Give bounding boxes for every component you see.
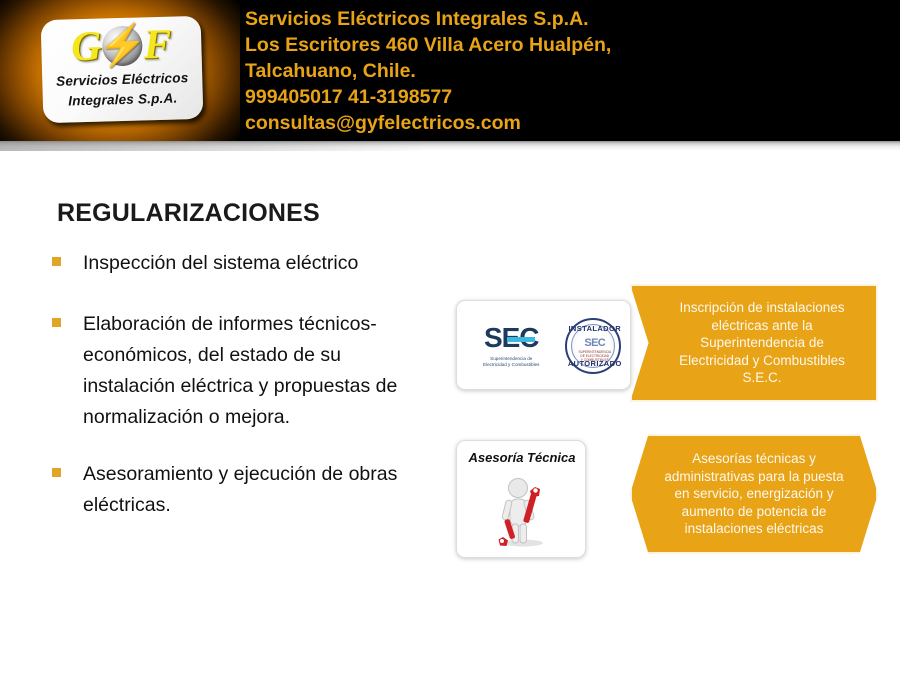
badge-top-label: INSTALADOR <box>567 324 623 333</box>
header-divider <box>0 141 900 151</box>
lightning-bolt-icon: ⚡ <box>97 25 148 66</box>
sec-logo-card-inner: SEC Superintendencia de Electricidad y C… <box>457 301 631 390</box>
slide: G ⚡ F Servicios Eléctricos Integrales S.… <box>0 0 900 675</box>
asesoria-tecnica-card: Asesoría Técnica <box>456 440 586 558</box>
company-contact-block: Servicios Eléctricos Integrales S.p.A. L… <box>245 6 885 136</box>
sec-logo-card: SEC Superintendencia de Electricidad y C… <box>456 300 631 390</box>
company-email: consultas@gyfelectricos.com <box>245 110 885 136</box>
spacer <box>52 279 452 309</box>
list-item-label: Inspección del sistema eléctrico <box>83 248 358 279</box>
list-item: Inspección del sistema eléctrico <box>52 248 452 279</box>
company-address-line1: Los Escritores 460 Villa Acero Hualpén, <box>245 32 885 58</box>
badge-bottom-label: AUTORIZADO <box>567 359 623 368</box>
asesoria-tecnica-title: Asesoría Técnica <box>457 450 586 465</box>
page-title: REGULARIZACIONES <box>57 199 320 228</box>
header-bar: G ⚡ F Servicios Eléctricos Integrales S.… <box>0 0 900 141</box>
logo-tagline-line2: Integrales S.p.A. <box>43 90 203 109</box>
badge-center-wordmark: SEC <box>578 338 612 349</box>
instalador-autorizado-badge: INSTALADOR SEC SUPERINTENDENCIA DE ELECT… <box>565 318 621 374</box>
list-item: Asesoramiento y ejecución de obras eléct… <box>52 459 452 521</box>
company-logo: G ⚡ F Servicios Eléctricos Integrales S.… <box>41 16 204 123</box>
list-item: Elaboración de informes técnicos-económi… <box>52 309 452 433</box>
company-address-line2: Talcahuano, Chile. <box>245 58 885 84</box>
company-phones: 999405017 41-3198577 <box>245 84 885 110</box>
sec-wordmark: SEC <box>484 324 539 352</box>
logo-tagline-line1: Servicios Eléctricos <box>42 70 202 89</box>
company-name: Servicios Eléctricos Integrales S.p.A. <box>245 6 885 32</box>
bullet-square-icon <box>52 468 61 477</box>
logo-lettermark: G ⚡ F <box>41 20 202 72</box>
sec-logo-subtitle: Superintendencia de Electricidad y Combu… <box>468 356 554 368</box>
list-item-label: Asesoramiento y ejecución de obras eléct… <box>83 459 438 521</box>
spacer <box>52 433 452 459</box>
asesorias-callout: Asesorías técnicas y administrativas par… <box>630 434 878 554</box>
bullet-square-icon <box>52 318 61 327</box>
inscripcion-callout-text: Inscripción de instalaciones eléctricas … <box>645 299 863 387</box>
inscripcion-callout: Inscripción de instalaciones eléctricas … <box>630 284 878 402</box>
bullet-square-icon <box>52 257 61 266</box>
sec-logo: SEC Superintendencia de Electricidad y C… <box>468 324 554 368</box>
logo-orb: ⚡ <box>102 25 143 66</box>
list-item-label: Elaboración de informes técnicos-económi… <box>83 309 438 433</box>
bullet-list: Inspección del sistema eléctrico Elabora… <box>52 248 452 521</box>
asesorias-callout-text: Asesorías técnicas y administrativas par… <box>634 450 873 538</box>
badge-center: SEC SUPERINTENDENCIA DE ELECTRICIDAD Y C… <box>578 338 612 358</box>
technician-with-wrench-icon <box>491 475 555 547</box>
